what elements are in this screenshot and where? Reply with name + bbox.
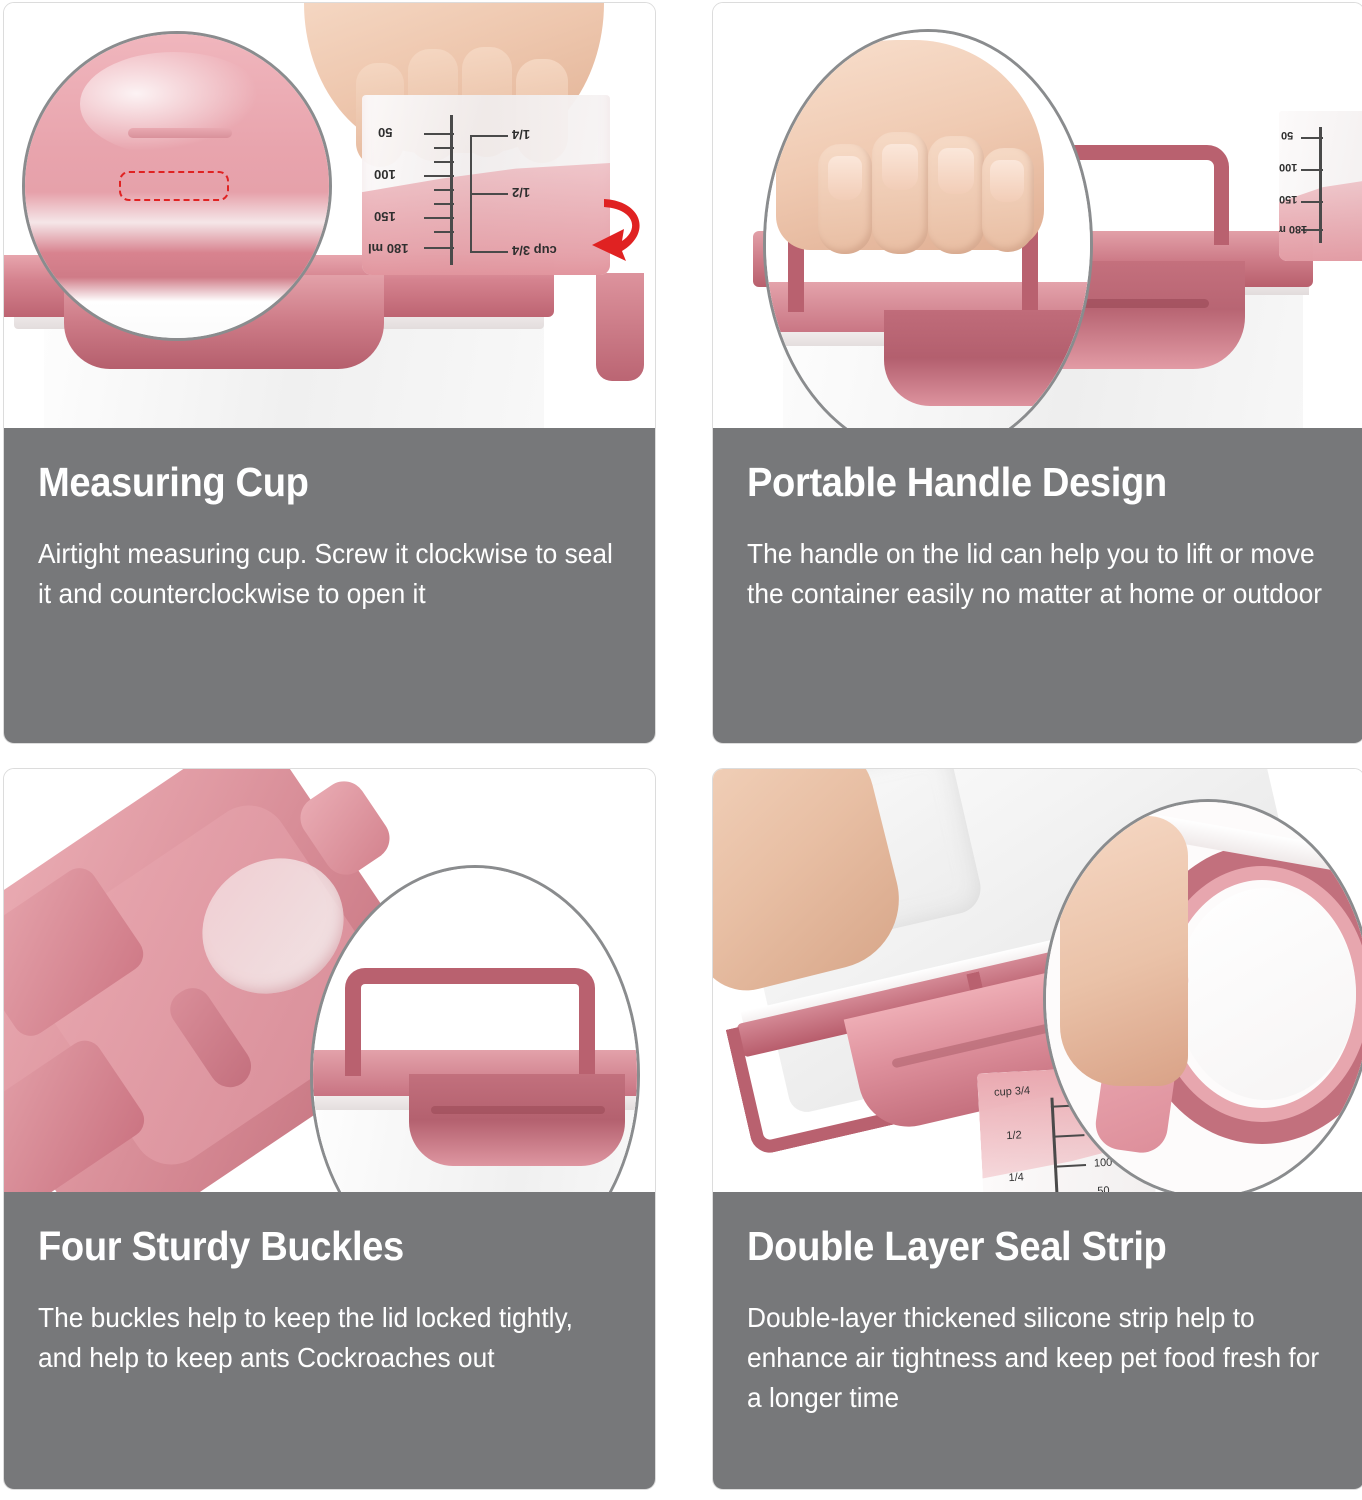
rotation-arrow-icon [582, 189, 655, 265]
cup-label-ml: 100 [374, 167, 396, 182]
panel-description: Double-layer thickened silicone strip he… [747, 1298, 1328, 1417]
cup-label-ml: 50 [1281, 129, 1293, 141]
cup-tick [470, 135, 508, 137]
magnifier-lens-buckle [310, 865, 640, 1192]
cup-label-ml: 100 [1279, 161, 1297, 173]
cup-tick [470, 193, 508, 195]
panel-title: Four Sturdy Buckles [38, 1225, 580, 1268]
feature-grid: 50 100 150 180 ml 1/4 1/2 cup 3/4 [0, 0, 1362, 1500]
lid-inner-surface [1176, 888, 1356, 1100]
magnifier-lens-seal-ring [1043, 799, 1362, 1192]
feature-panel-double-layer-seal-strip: 180 ml 150 100 50 cup 3/4 1/2 1/4 Double… [712, 768, 1362, 1490]
highlight-dashed-outline [119, 171, 228, 201]
panel-description: The buckles help to keep the lid locked … [38, 1298, 619, 1378]
caption-measuring-cup: Measuring Cup Airtight measuring cup. Sc… [4, 428, 655, 743]
panel-description: The handle on the lid can help you to li… [747, 534, 1328, 614]
lid-buckle-right [596, 273, 644, 381]
cup-label-ml: 150 [374, 209, 396, 224]
cup-label-ml: 180 ml [1279, 223, 1307, 235]
cup-label-fraction: 1/2 [512, 185, 530, 200]
caption-portable-handle-design: Portable Handle Design The handle on the… [713, 428, 1362, 743]
measuring-cup: 50 100 150 180 ml 1/4 1/2 cup 3/4 [362, 95, 610, 275]
cup-tick [424, 175, 454, 177]
product-image-measuring-cup: 50 100 150 180 ml 1/4 1/2 cup 3/4 [4, 3, 655, 428]
lid-buckle-front [884, 310, 1093, 406]
cup-scale-axis [1319, 127, 1322, 243]
cup-tick [1301, 201, 1323, 203]
cup-label-fraction: cup 3/4 [994, 1085, 1031, 1099]
thumb [1060, 816, 1188, 1086]
cup-tick [434, 147, 454, 149]
cup-tick [434, 231, 454, 233]
fingernail [828, 156, 862, 200]
panel-title: Measuring Cup [38, 461, 580, 504]
cup-tick [1301, 169, 1323, 171]
feature-panel-portable-handle-design: 50 100 150 180 ml [712, 2, 1362, 744]
cup-tick [470, 251, 508, 253]
product-image-buckles [4, 769, 655, 1192]
product-image-seal-strip: 180 ml 150 100 50 cup 3/4 1/2 1/4 [713, 769, 1362, 1192]
cup-tick [434, 161, 454, 163]
cup-label-fraction: 1/2 [1006, 1129, 1022, 1142]
cup-pink-tint [362, 163, 610, 275]
feature-panel-measuring-cup: 50 100 150 180 ml 1/4 1/2 cup 3/4 [3, 2, 656, 744]
magnifier-lens-lid-seal [22, 31, 332, 341]
cup-tick [424, 133, 454, 135]
buckle-groove [431, 1106, 605, 1114]
panel-title: Double Layer Seal Strip [747, 1225, 1289, 1268]
magnifier-lens-handle-grip [763, 29, 1093, 428]
fingernail [938, 148, 974, 194]
lens-highlight [80, 52, 268, 155]
cup-tick [434, 189, 454, 191]
cup-tick [434, 203, 454, 205]
carry-handle [345, 968, 595, 1076]
feature-panel-four-sturdy-buckles: Four Sturdy Buckles The buckles help to … [3, 768, 656, 1490]
caption-four-sturdy-buckles: Four Sturdy Buckles The buckles help to … [4, 1192, 655, 1489]
cup-label-fraction: cup 3/4 [512, 243, 557, 258]
fingernail [990, 160, 1024, 202]
cup-label-ml: 50 [378, 125, 392, 140]
caption-double-layer-seal-strip: Double Layer Seal Strip Double-layer thi… [713, 1192, 1362, 1489]
cup-tick [424, 217, 454, 219]
product-image-portable-handle: 50 100 150 180 ml [713, 3, 1362, 428]
cup-label-ml: 150 [1279, 193, 1297, 205]
cup-label-fraction: 1/4 [1008, 1171, 1024, 1184]
panel-description: Airtight measuring cup. Screw it clockwi… [38, 534, 619, 614]
cup-tick [1301, 137, 1323, 139]
cup-label-fraction: 1/4 [512, 127, 530, 142]
cup-tick [424, 247, 454, 249]
cup-label-ml: 180 ml [368, 241, 408, 256]
panel-title: Portable Handle Design [747, 461, 1289, 504]
measuring-cup: 50 100 150 180 ml [1279, 111, 1362, 261]
fingernail [882, 144, 918, 190]
buckle-closed [409, 1074, 625, 1166]
lid-ridge [128, 128, 231, 138]
